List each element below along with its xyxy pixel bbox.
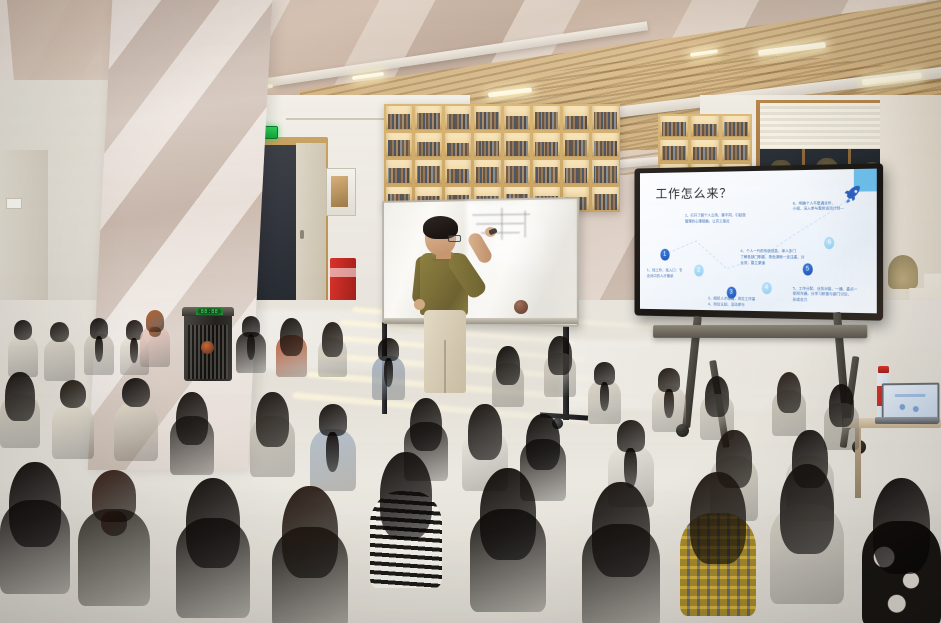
audience-person xyxy=(582,482,660,623)
audience-person-head xyxy=(592,482,649,577)
audience-person-head xyxy=(256,392,289,447)
audience-person xyxy=(176,478,250,623)
audience-person xyxy=(318,322,347,383)
audience-person-ponytail xyxy=(664,389,674,419)
audience-person-head xyxy=(92,470,137,522)
audience-person-ponytail xyxy=(384,358,393,387)
audience-person-head xyxy=(282,486,338,578)
audience-person-head xyxy=(526,414,560,470)
audience-person-head xyxy=(410,398,442,451)
audience-person-head xyxy=(594,362,614,385)
audience-person-ponytail xyxy=(95,336,104,362)
audience-person xyxy=(78,470,150,621)
audience-person xyxy=(652,368,686,439)
audience-person-head xyxy=(468,404,502,460)
audience-person-head xyxy=(617,420,646,452)
audience-person xyxy=(0,462,70,609)
audience-person-head xyxy=(176,392,208,445)
audience-person xyxy=(470,468,546,623)
audience-person-head xyxy=(322,322,343,357)
audience-person xyxy=(52,380,94,468)
audience-person-head xyxy=(548,336,571,375)
audience-person xyxy=(770,464,844,619)
audience-person-head xyxy=(319,404,348,436)
audience-person-head xyxy=(242,316,261,337)
audience-person-head xyxy=(658,368,679,392)
audience-person xyxy=(276,318,307,383)
audience-person xyxy=(250,392,295,487)
audience-person xyxy=(372,338,405,407)
audience-person xyxy=(170,392,214,484)
audience-person-head xyxy=(280,318,303,356)
audience-person xyxy=(114,378,158,470)
audience-person-head xyxy=(9,462,60,547)
audience-person-head xyxy=(122,378,149,407)
audience-person xyxy=(84,318,114,381)
audience-person-head xyxy=(829,384,855,427)
audience-person-head xyxy=(186,478,240,568)
audience xyxy=(0,0,941,623)
audience-person-body xyxy=(114,402,158,461)
audience-person-ponytail xyxy=(326,432,339,472)
audience-person-head xyxy=(496,346,519,385)
photo-scene: 工作怎么来？ 1 1、找工作，找入口：专 业对口的人才需求 2 2、打开了解个人… xyxy=(0,0,941,623)
audience-person-ponytail xyxy=(247,334,256,360)
audience-person-head xyxy=(378,338,398,361)
audience-person xyxy=(44,322,75,387)
audience-person xyxy=(370,452,442,603)
audience-person-head xyxy=(146,310,165,332)
audience-person xyxy=(862,478,941,623)
audience-person-head xyxy=(780,464,834,554)
audience-person-head xyxy=(60,380,86,408)
audience-person-head xyxy=(480,468,536,560)
audience-person-head xyxy=(690,472,746,564)
audience-person-body xyxy=(44,339,75,381)
audience-person xyxy=(236,316,266,379)
audience-person-head xyxy=(705,376,730,417)
audience-person-head xyxy=(873,478,931,574)
audience-person-head xyxy=(5,372,34,421)
audience-person-head xyxy=(90,318,109,339)
audience-person-head xyxy=(50,322,69,342)
audience-person-head xyxy=(380,452,433,539)
audience-person xyxy=(272,486,348,623)
audience-person-ponytail xyxy=(600,382,609,411)
audience-person xyxy=(544,336,576,403)
audience-person xyxy=(0,372,40,456)
audience-person-head xyxy=(777,372,802,413)
audience-person-body xyxy=(8,336,38,377)
audience-person xyxy=(680,472,756,623)
audience-person-body xyxy=(52,403,94,460)
audience-person xyxy=(140,310,170,373)
audience-person-head xyxy=(14,320,33,340)
